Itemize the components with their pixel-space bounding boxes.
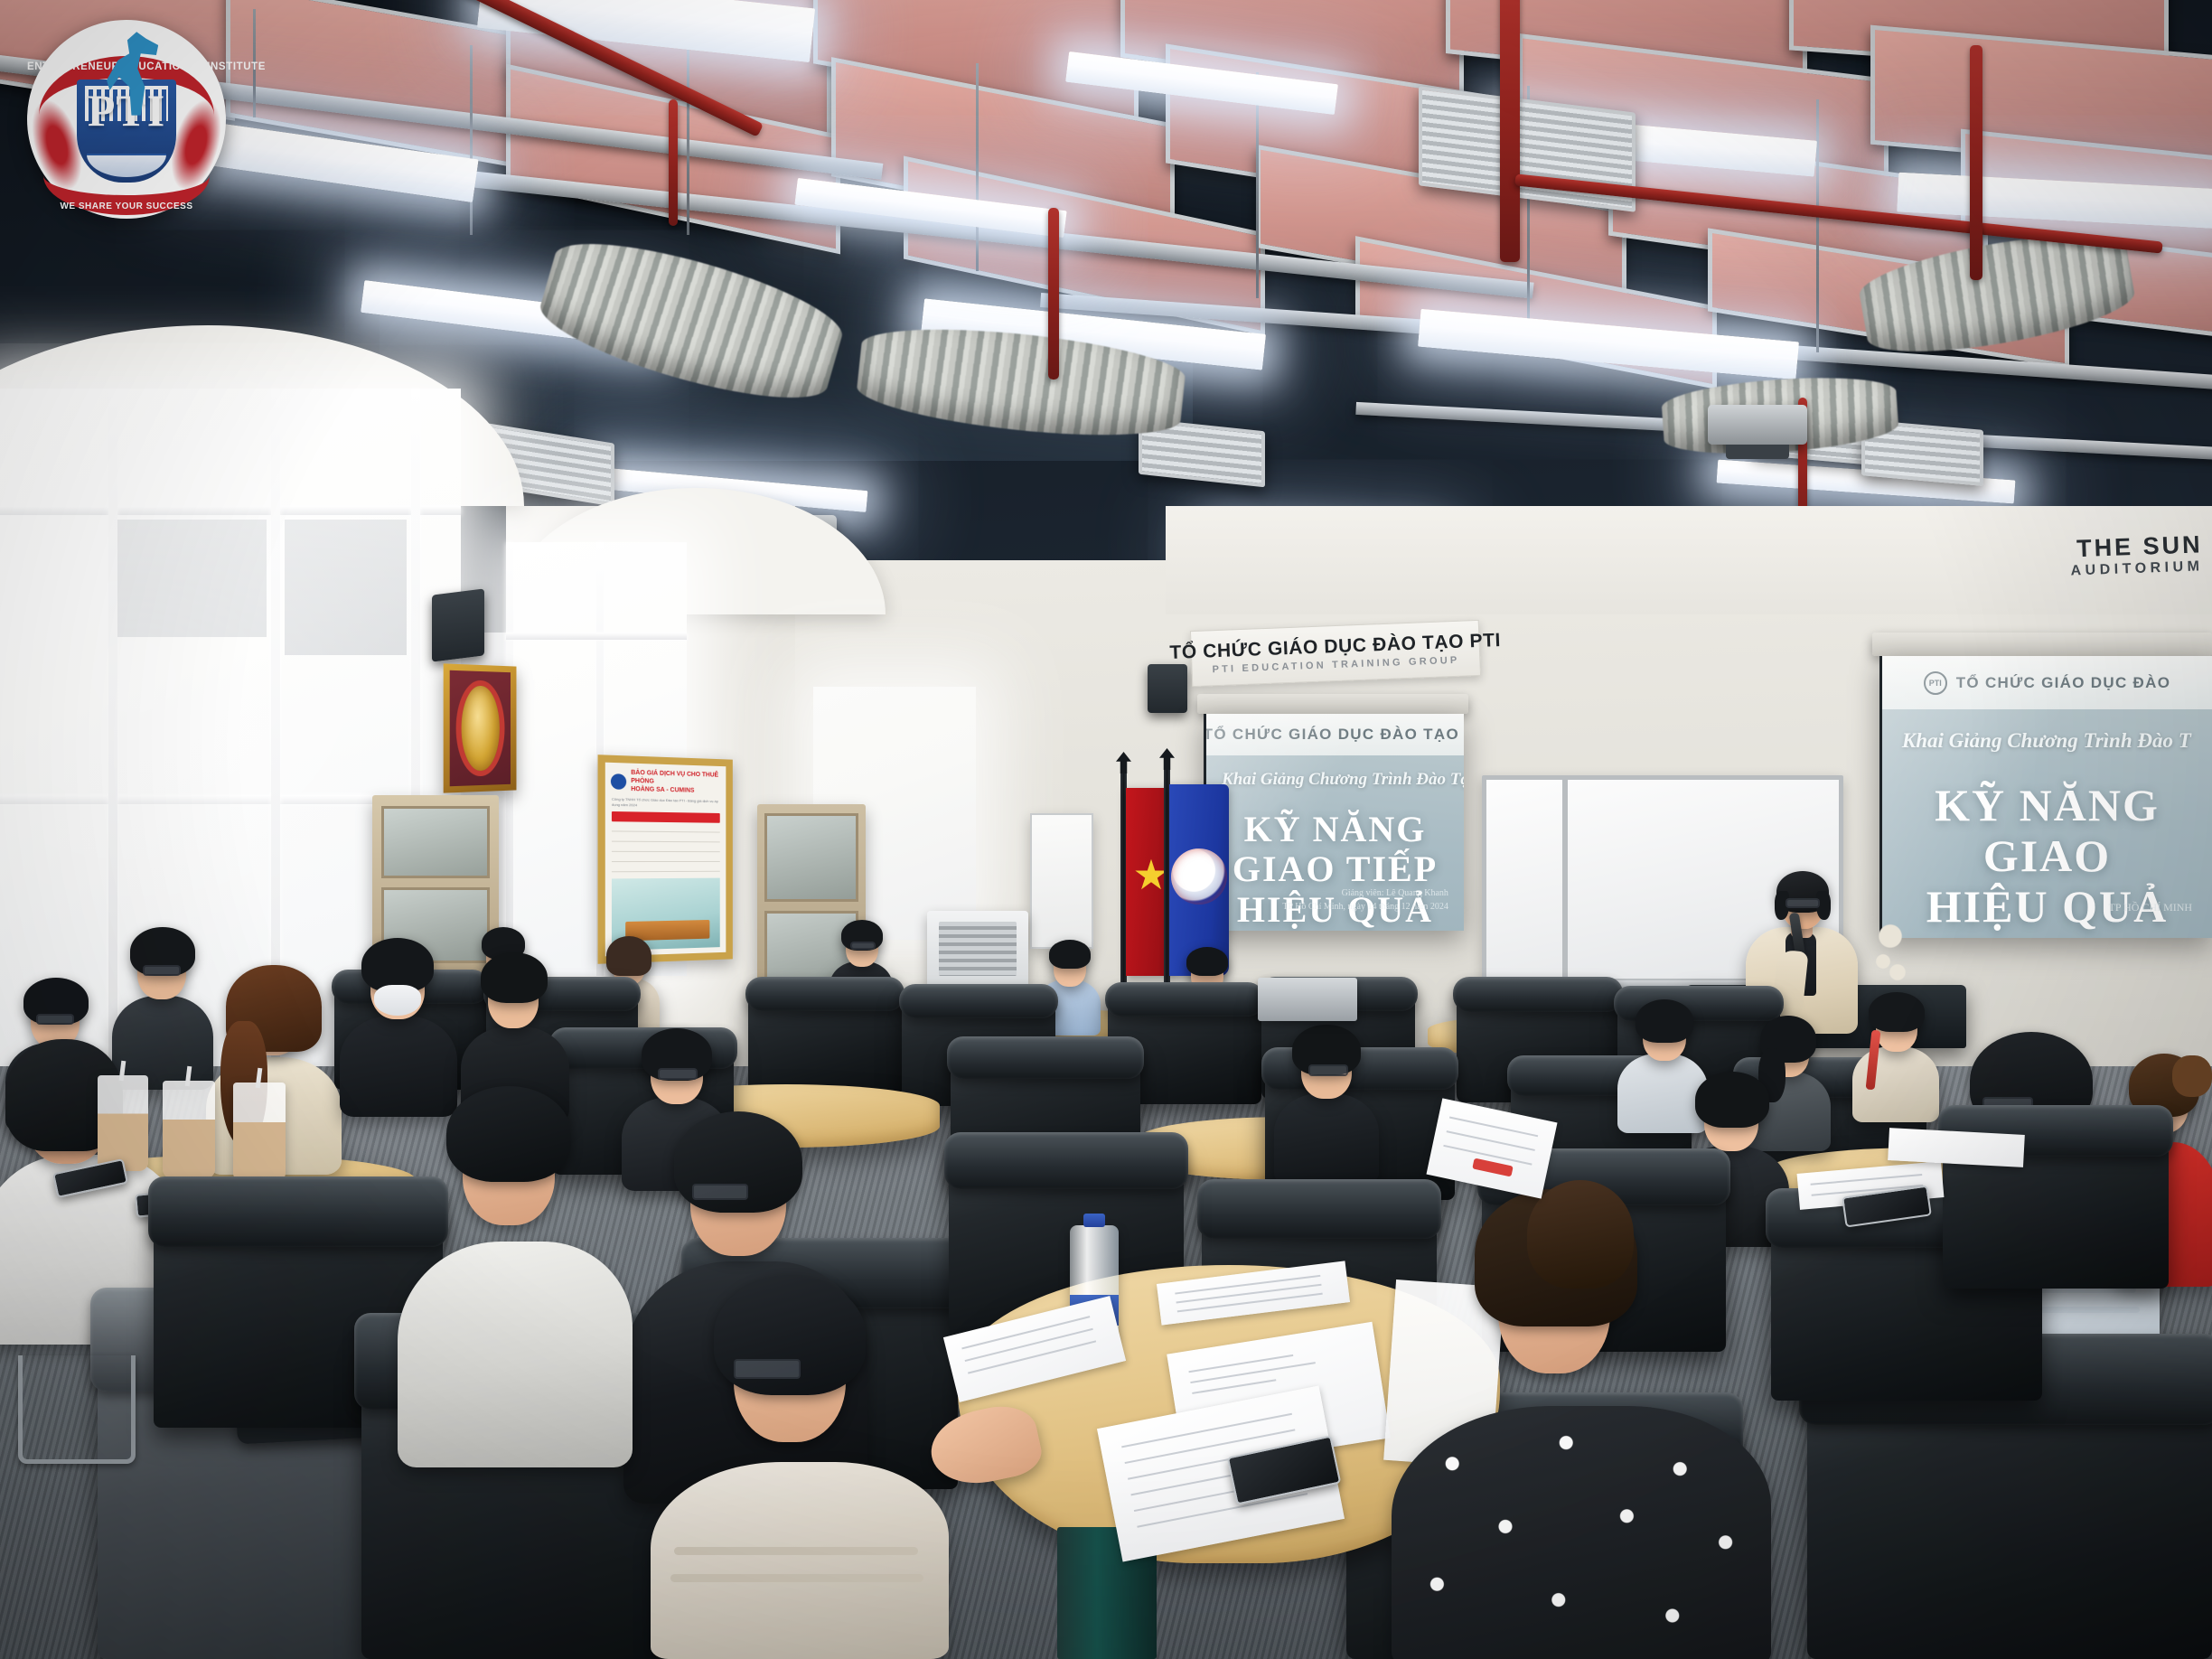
pti-crest-logo: ENTREPRENEUR EDUCATIONAL INSTITUTE PTI W… <box>27 20 226 219</box>
screen-title-line1: KỸ NĂNG GIAO TIẾP <box>1206 810 1464 891</box>
attendee-glasses-icon <box>734 1359 801 1379</box>
chair[interactable] <box>748 985 902 1097</box>
open-book-icon <box>87 154 166 176</box>
flipchart <box>1030 813 1093 949</box>
sprinkler-pipe <box>669 99 678 226</box>
attendee-glasses-icon <box>1308 1064 1348 1076</box>
right-projection-screen[interactable]: PTI TỔ CHỨC GIÁO DỤC ĐÀO Khai Giảng Chươ… <box>1879 656 2212 938</box>
attendee-foreground-striped <box>651 1276 949 1659</box>
classroom-photo: BẢO GIÁ DỊCH VỤ CHO THUÊ PHÒNG HOÀNG SA … <box>0 0 2212 1659</box>
screen-emblem-icon: PTI <box>1924 671 1947 695</box>
poster-title-line1: BẢO GIÁ DỊCH VỤ CHO THUÊ PHÒNG <box>631 770 720 788</box>
air-conditioner <box>927 911 1028 987</box>
screen-org-line: TỔ CHỨC GIÁO DỤC ĐÀO TẠO PTI <box>1204 726 1464 744</box>
wall-speaker <box>432 588 484 661</box>
face-mask <box>374 985 421 1016</box>
sprinkler-pipe <box>1500 0 1520 262</box>
screen-footer-line1: Giảng viên: Lê Quang Khanh <box>1282 886 1448 900</box>
logo-letters: PTI <box>27 88 226 133</box>
left-screen-housing <box>1197 694 1468 714</box>
presenter-glasses-icon <box>1786 898 1820 908</box>
window-shade <box>285 520 407 655</box>
projector <box>1708 405 1807 445</box>
attendee-glasses-icon <box>692 1184 748 1200</box>
attendee-foreground-polkadot <box>1392 1180 1771 1659</box>
screen-footer-line1: TP HỒ CHÍ MINH <box>2109 899 2193 915</box>
framed-plaque <box>444 663 517 792</box>
screen-subtitle: Khai Giảng Chương Trình Đào Tạo : <box>1222 770 1464 790</box>
screen-footer-line2: TP Hồ Chí Minh, ngày 14 tháng 12 năm 202… <box>1282 900 1448 914</box>
attendee-foreground-light-shirt <box>398 1081 633 1460</box>
chair-base <box>18 1355 136 1464</box>
sprinkler-pipe <box>1970 45 1982 280</box>
pti-flag-emblem-icon <box>1168 846 1230 907</box>
decorative-branch <box>1872 922 1908 994</box>
venue-sign-the-sun-auditorium: THE SUN AUDITORIUM <box>1960 530 2204 583</box>
ponytail <box>1527 1180 1634 1289</box>
poster-note: Công ty TNHH Tổ chức Giáo dục Đào tạo PT… <box>612 797 720 810</box>
poster-title-line2: HOÀNG SA - CUMINS <box>631 785 720 795</box>
chair[interactable] <box>1807 1355 2212 1659</box>
screen-subtitle: Khai Giảng Chương Trình Đào T <box>1902 729 2191 753</box>
wall-speaker <box>1148 664 1187 713</box>
logo-ribbon-text: WE SHARE YOUR SUCCESS <box>27 202 226 211</box>
polkadot-blouse <box>1392 1406 1771 1659</box>
window-shade <box>117 520 267 637</box>
left-projection-screen[interactable]: PTI TỔ CHỨC GIÁO DỤC ĐÀO TẠO PTI Khai Gi… <box>1204 714 1464 931</box>
wall-sign-pti: TỔ CHỨC GIÁO DỤC ĐÀO TẠO PTI PTI EDUCATI… <box>1190 620 1481 687</box>
attendee-glasses-icon <box>658 1068 698 1080</box>
sprinkler-pipe <box>1048 208 1059 380</box>
attendee <box>1274 1019 1379 1177</box>
right-screen-housing <box>1872 633 2212 656</box>
laptop[interactable] <box>1258 978 1357 1021</box>
screen-org-line: TỔ CHỨC GIÁO DỤC ĐÀO <box>1956 674 2171 692</box>
milk-tea-cup <box>163 1081 215 1178</box>
milk-tea-cup <box>98 1075 148 1171</box>
screen-title-line1: KỸ NĂNG GIAO <box>1882 780 2212 881</box>
milk-tea-cup <box>233 1083 286 1182</box>
